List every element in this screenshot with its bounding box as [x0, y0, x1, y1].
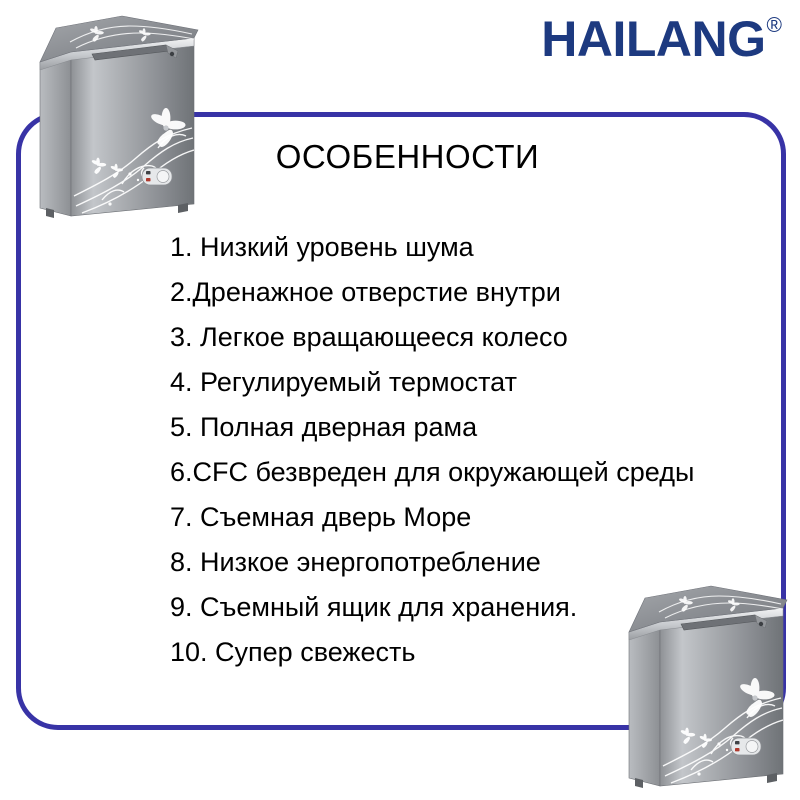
list-item: 2.Дренажное отверстие внутри: [170, 270, 770, 315]
chest-freezer-top-left: [26, 8, 201, 238]
list-item: 7. Съемная дверь Море: [170, 495, 770, 540]
chest-freezer-bottom-right: [615, 578, 790, 800]
list-item: 1. Низкий уровень шума: [170, 225, 770, 270]
brand-name: HAILANG: [541, 14, 765, 64]
thermostat-control-panel: [731, 738, 761, 755]
list-item: 3. Легкое вращающееся колесо: [170, 315, 770, 360]
brand-logo: HAILANG ®: [541, 14, 782, 64]
list-item: 4. Регулируемый термостат: [170, 360, 770, 405]
registered-trademark-icon: ®: [767, 15, 782, 36]
product-feature-poster: HAILANG ® ОСОБЕННОСТИ 1. Низкий уровень …: [0, 0, 800, 800]
thermostat-control-panel: [142, 168, 172, 185]
list-item: 5. Полная дверная рама: [170, 405, 770, 450]
page-title: ОСОБЕННОСТИ: [150, 138, 665, 176]
list-item: 6.CFC безвреден для окружающей среды: [170, 450, 770, 495]
